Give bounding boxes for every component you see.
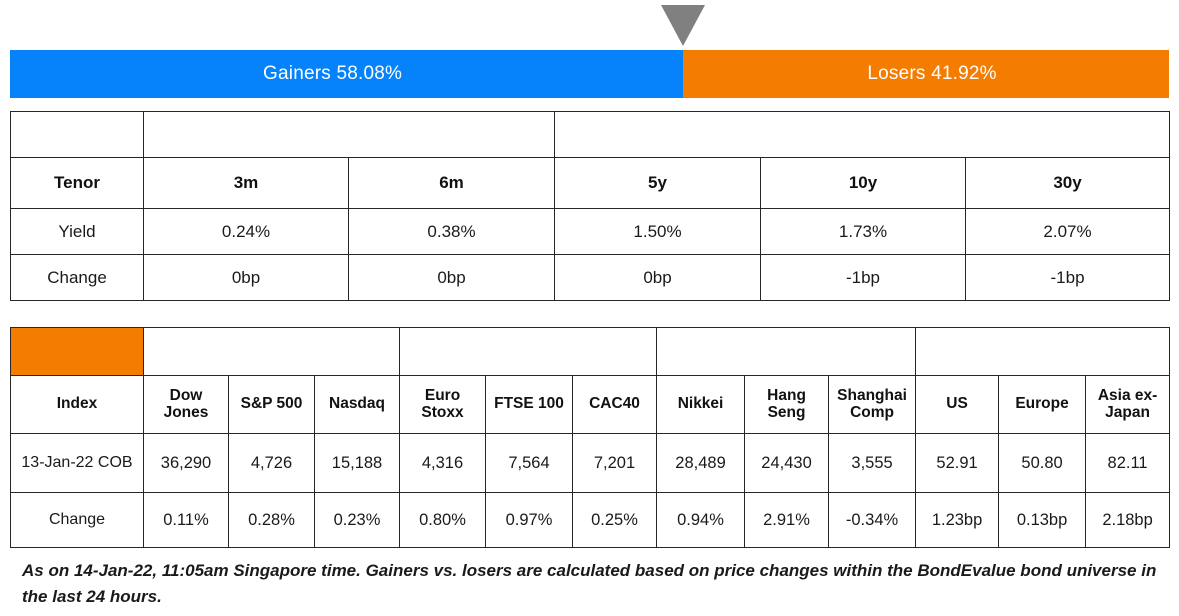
yield-5y: 1.50% — [555, 209, 761, 255]
tenor-header-3m: 3m — [144, 158, 349, 209]
value-ftse-100: 7,564 — [486, 434, 573, 493]
table-row: Change 0.11% 0.28% 0.23% 0.80% 0.97% 0.2… — [11, 493, 1170, 548]
change-cds-us: 1.23bp — [916, 493, 999, 548]
column-header-nikkei: Nikkei — [657, 376, 745, 434]
change-shanghai-comp: -0.34% — [829, 493, 916, 548]
change-sp-500: 0.28% — [229, 493, 315, 548]
column-header-cds-us: US — [916, 376, 999, 434]
gainers-losers-bar: Gainers 58.08% Losers 41.92% — [10, 50, 1169, 98]
value-cds-us: 52.91 — [916, 434, 999, 493]
row-label-cob-date: 13-Jan-22 COB — [11, 434, 144, 493]
yield-30y: 2.07% — [966, 209, 1170, 255]
footnote-text: As on 14-Jan-22, 11:05am Singapore time.… — [22, 558, 1162, 609]
value-dow-jones: 36,290 — [144, 434, 229, 493]
tenor-header-5y: 5y — [555, 158, 761, 209]
change-6m: 0bp — [349, 255, 555, 301]
column-header-cds-europe: Europe — [999, 376, 1086, 434]
value-hang-seng: 24,430 — [745, 434, 829, 493]
row-label-change: Change — [11, 493, 144, 548]
value-nasdaq: 15,188 — [315, 434, 400, 493]
table-row: Yield 0.24% 0.38% 1.50% 1.73% 2.07% — [11, 209, 1170, 255]
yield-10y: 1.73% — [761, 209, 966, 255]
yield-3m: 0.24% — [144, 209, 349, 255]
column-header-nasdaq: Nasdaq — [315, 376, 400, 434]
tenor-header-10y: 10y — [761, 158, 966, 209]
split-marker-triangle-icon — [661, 5, 705, 46]
group-header-ig-cds-spreads: IG CDS Spreads — [916, 328, 1170, 376]
change-5y: 0bp — [555, 255, 761, 301]
value-cds-europe: 50.80 — [999, 434, 1086, 493]
column-header-shanghai-comp: ShanghaiComp — [829, 376, 916, 434]
column-header-hang-seng: HangSeng — [745, 376, 829, 434]
tenor-row-label: Tenor — [11, 158, 144, 209]
table-row: 13-Jan-22 COB 36,290 4,726 15,188 4,316 … — [11, 434, 1170, 493]
yield-6m: 0.38% — [349, 209, 555, 255]
group-header-us-libor: US LIBOR — [144, 112, 555, 158]
tenor-header-row: Tenor 3m 6m 5y 10y 30y — [11, 158, 1170, 209]
row-label-change: Change — [11, 255, 144, 301]
change-euro-stoxx: 0.80% — [400, 493, 486, 548]
change-cds-europe: 0.13bp — [999, 493, 1086, 548]
tenor-header-6m: 6m — [349, 158, 555, 209]
value-sp-500: 4,726 — [229, 434, 315, 493]
group-header-us-indices: US Indices — [144, 328, 400, 376]
losers-segment[interactable]: Losers 41.92% — [683, 50, 1169, 98]
value-cac40: 7,201 — [573, 434, 657, 493]
change-cds-asia-ex-japan: 2.18bp — [1086, 493, 1170, 548]
change-10y: -1bp — [761, 255, 966, 301]
column-header-dow-jones: DowJones — [144, 376, 229, 434]
benchmark-group-header-row: Benchmark US LIBOR US Treasury — [11, 112, 1170, 158]
index-row-label: Index — [11, 376, 144, 434]
change-3m: 0bp — [144, 255, 349, 301]
column-header-ftse-100: FTSE 100 — [486, 376, 573, 434]
change-nasdaq: 0.23% — [315, 493, 400, 548]
group-header-europe-indices: Europe Indices — [400, 328, 657, 376]
column-header-sp-500: S&P 500 — [229, 376, 315, 434]
tenor-header-30y: 30y — [966, 158, 1170, 209]
row-label-yield: Yield — [11, 209, 144, 255]
value-nikkei: 28,489 — [657, 434, 745, 493]
indices-column-header-row: Index DowJones S&P 500 Nasdaq EuroStoxx … — [11, 376, 1170, 434]
indices-group-header-row: US Indices Europe Indices Asia Indices I… — [11, 328, 1170, 376]
gainers-label: Gainers 58.08% — [263, 63, 402, 85]
value-shanghai-comp: 3,555 — [829, 434, 916, 493]
column-header-euro-stoxx: EuroStoxx — [400, 376, 486, 434]
table-row: Change 0bp 0bp 0bp -1bp -1bp — [11, 255, 1170, 301]
benchmark-rates-table: Benchmark US LIBOR US Treasury Tenor 3m … — [10, 111, 1170, 301]
change-ftse-100: 0.97% — [486, 493, 573, 548]
change-dow-jones: 0.11% — [144, 493, 229, 548]
change-30y: -1bp — [966, 255, 1170, 301]
value-cds-asia-ex-japan: 82.11 — [1086, 434, 1170, 493]
value-euro-stoxx: 4,316 — [400, 434, 486, 493]
column-header-cac40: CAC40 — [573, 376, 657, 434]
gainers-segment[interactable]: Gainers 58.08% — [10, 50, 683, 98]
column-header-cds-asia-ex-japan: Asia ex-Japan — [1086, 376, 1170, 434]
change-cac40: 0.25% — [573, 493, 657, 548]
change-nikkei: 0.94% — [657, 493, 745, 548]
group-header-asia-indices: Asia Indices — [657, 328, 916, 376]
benchmark-corner-label: Benchmark — [11, 112, 144, 158]
group-header-us-treasury: US Treasury — [555, 112, 1170, 158]
losers-label: Losers 41.92% — [867, 63, 996, 85]
indices-corner-label — [11, 328, 144, 376]
market-indices-table: US Indices Europe Indices Asia Indices I… — [10, 327, 1170, 548]
change-hang-seng: 2.91% — [745, 493, 829, 548]
